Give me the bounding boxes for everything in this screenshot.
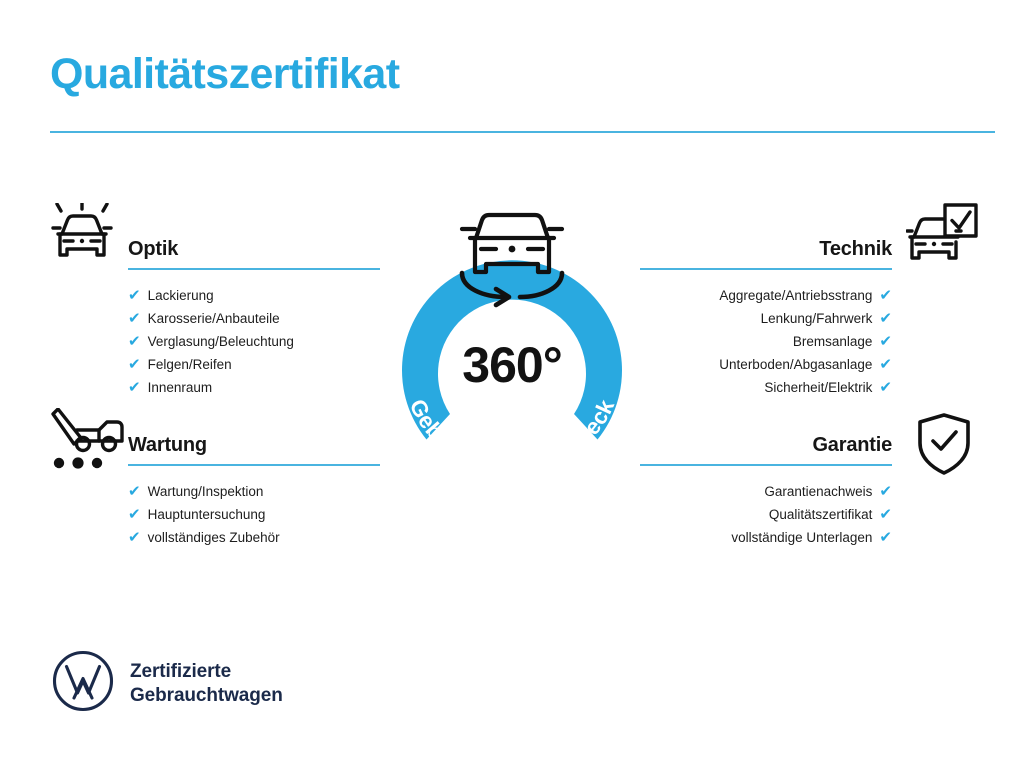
item-label: Innenraum xyxy=(148,376,213,399)
list-item: ✔Unterboden/Abgasanlage xyxy=(640,353,892,376)
list-item: ✔Innenraum xyxy=(128,376,380,399)
list-item: ✔Lackierung xyxy=(128,284,380,307)
section-wartung: Wartung ✔Wartung/Inspektion ✔Hauptunters… xyxy=(128,434,380,549)
item-label: Sicherheit/Elektrik xyxy=(764,376,872,399)
section-optik: Optik ✔Lackierung ✔Karosserie/Anbauteile… xyxy=(128,238,380,399)
car-checkbox-icon xyxy=(906,203,980,274)
list-item: ✔Wartung/Inspektion xyxy=(128,480,380,503)
check-icon: ✔ xyxy=(128,334,141,349)
list-item: ✔Sicherheit/Elektrik xyxy=(640,376,892,399)
item-label: Wartung/Inspektion xyxy=(148,480,264,503)
list-item: ✔Verglasung/Beleuchtung xyxy=(128,330,380,353)
shield-check-icon xyxy=(915,412,973,483)
footer-brand: Zertifizierte Gebrauchtwagen xyxy=(52,650,283,717)
list-item: ✔Lenkung/Fahrwerk xyxy=(640,307,892,330)
technik-list: ✔Aggregate/Antriebsstrang ✔Lenkung/Fahrw… xyxy=(640,284,892,399)
list-item: ✔Karosserie/Anbauteile xyxy=(128,307,380,330)
check-icon: ✔ xyxy=(879,380,892,395)
footer-line-2: Gebrauchtwagen xyxy=(130,684,283,707)
check-icon: ✔ xyxy=(128,380,141,395)
item-label: Felgen/Reifen xyxy=(148,353,232,376)
certificate-page: Qualitätszertifikat xyxy=(0,0,1024,768)
footer-text: Zertifizierte Gebrauchtwagen xyxy=(130,660,283,706)
list-item: ✔Aggregate/Antriebsstrang xyxy=(640,284,892,307)
section-divider-wartung xyxy=(128,464,380,466)
check-icon: ✔ xyxy=(879,530,892,545)
footer-line-1: Zertifizierte xyxy=(130,660,283,683)
section-title-garantie: Garantie xyxy=(640,434,892,456)
optik-list: ✔Lackierung ✔Karosserie/Anbauteile ✔Verg… xyxy=(128,284,380,399)
list-item: ✔Bremsanlage xyxy=(640,330,892,353)
item-label: vollständige Unterlagen xyxy=(731,526,872,549)
list-item: ✔Garantienachweis xyxy=(640,480,892,503)
item-label: Qualitätszertifikat xyxy=(769,503,873,526)
list-item: ✔vollständige Unterlagen xyxy=(640,526,892,549)
check-icon: ✔ xyxy=(879,311,892,326)
item-label: Karosserie/Anbauteile xyxy=(148,307,280,330)
list-item: ✔vollständiges Zubehör xyxy=(128,526,380,549)
item-label: Unterboden/Abgasanlage xyxy=(719,353,872,376)
list-item: ✔Felgen/Reifen xyxy=(128,353,380,376)
check-icon: ✔ xyxy=(128,530,141,545)
item-label: Garantienachweis xyxy=(764,480,872,503)
check-icon: ✔ xyxy=(128,357,141,372)
section-technik: Technik ✔Aggregate/Antriebsstrang ✔Lenku… xyxy=(640,238,892,399)
check-icon: ✔ xyxy=(879,334,892,349)
section-divider-optik xyxy=(128,268,380,270)
list-item: ✔Hauptuntersuchung xyxy=(128,503,380,526)
list-item: ✔Qualitätszertifikat xyxy=(640,503,892,526)
check-icon: ✔ xyxy=(128,507,141,522)
check-icon: ✔ xyxy=(879,288,892,303)
page-title: Qualitätszertifikat xyxy=(50,52,399,97)
item-label: vollständiges Zubehör xyxy=(148,526,280,549)
item-label: Lackierung xyxy=(148,284,214,307)
360-badge: Gebrauchtwagen-Check 360° xyxy=(378,196,646,496)
badge-value: 360° xyxy=(378,336,646,394)
section-title-wartung: Wartung xyxy=(128,434,380,456)
vw-roundel-icon xyxy=(52,650,114,717)
check-icon: ✔ xyxy=(879,507,892,522)
section-divider-garantie xyxy=(640,464,892,466)
section-title-technik: Technik xyxy=(640,238,892,260)
section-garantie: Garantie ✔Garantienachweis ✔Qualitätszer… xyxy=(640,434,892,549)
item-label: Hauptuntersuchung xyxy=(148,503,266,526)
section-divider-technik xyxy=(640,268,892,270)
item-label: Lenkung/Fahrwerk xyxy=(761,307,873,330)
header-divider xyxy=(50,131,995,133)
section-title-optik: Optik xyxy=(128,238,380,260)
wartung-list: ✔Wartung/Inspektion ✔Hauptuntersuchung ✔… xyxy=(128,480,380,549)
car-lift-icon xyxy=(47,408,125,479)
check-icon: ✔ xyxy=(879,484,892,499)
check-icon: ✔ xyxy=(128,288,141,303)
garantie-list: ✔Garantienachweis ✔Qualitätszertifikat ✔… xyxy=(640,480,892,549)
check-icon: ✔ xyxy=(128,311,141,326)
item-label: Verglasung/Beleuchtung xyxy=(148,330,294,353)
check-icon: ✔ xyxy=(128,484,141,499)
item-label: Aggregate/Antriebsstrang xyxy=(719,284,872,307)
car-shine-icon xyxy=(47,203,117,274)
check-icon: ✔ xyxy=(879,357,892,372)
item-label: Bremsanlage xyxy=(793,330,873,353)
